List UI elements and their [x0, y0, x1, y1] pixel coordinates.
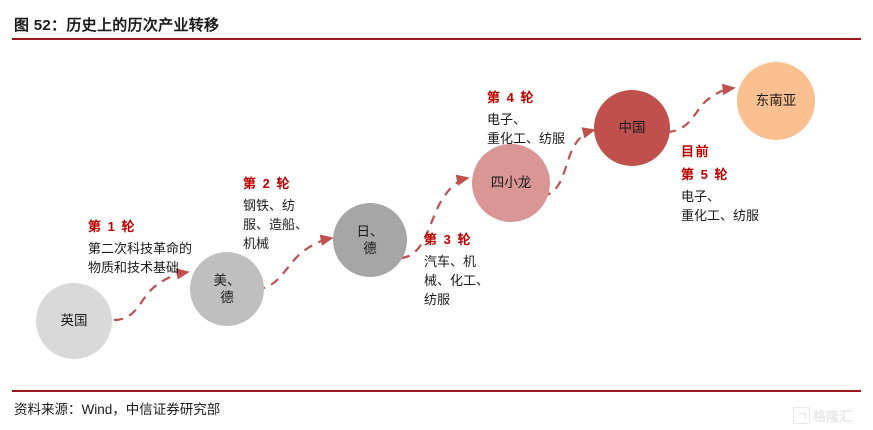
- node-jp-de[interactable]: 日、德: [333, 203, 407, 277]
- watermark-text: 格隆汇: [813, 406, 852, 425]
- round-3-desc-line3: 纺服: [424, 291, 489, 310]
- watermark: 格隆汇: [793, 406, 852, 425]
- round-5-now-label: 目前: [681, 141, 759, 160]
- annotation-round-2: 第 2 轮 钢铁、纺 服、造船、 机械: [243, 173, 308, 254]
- node-us-de-label: 美、德: [210, 272, 244, 307]
- round-3-desc-line1: 汽车、机: [424, 253, 489, 272]
- round-3-desc: 汽车、机 械、化工、 纺服: [424, 253, 489, 310]
- figure-container: 图 52：历史上的历次产业转移 英国 美、德 日、德 四小龙 中国: [0, 0, 873, 430]
- gelonghui-logo-icon: [793, 407, 810, 424]
- node-jp-de-label: 日、德: [353, 223, 387, 258]
- source-note: 资料来源：Wind，中信证券研究部: [14, 398, 220, 418]
- round-1-label: 第 1 轮: [88, 216, 192, 235]
- title-divider: [12, 38, 861, 40]
- node-sea[interactable]: 东南亚: [737, 62, 815, 140]
- round-2-label: 第 2 轮: [243, 173, 308, 192]
- round-1-desc: 第二次科技革命的 物质和技术基础: [88, 240, 192, 278]
- round-5-desc-line2: 重化工、纺服: [681, 207, 759, 226]
- node-four-dragons-label: 四小龙: [491, 174, 532, 191]
- arrow-china-to-sea: [667, 88, 734, 132]
- node-uk-label: 英国: [61, 312, 88, 329]
- round-2-desc-line3: 机械: [243, 235, 308, 254]
- round-2-desc-line2: 服、造船、: [243, 216, 308, 235]
- page-title: 图 52：历史上的历次产业转移: [14, 14, 219, 35]
- annotation-round-5: 目前 第 5 轮 电子、 重化工、纺服: [681, 141, 759, 226]
- annotation-round-3: 第 3 轮 汽车、机 械、化工、 纺服: [424, 229, 489, 310]
- round-3-desc-line2: 械、化工、: [424, 272, 489, 291]
- node-uk[interactable]: 英国: [36, 283, 112, 359]
- round-2-desc: 钢铁、纺 服、造船、 机械: [243, 197, 308, 254]
- annotation-round-4: 第 4 轮 电子、 重化工、纺服: [487, 87, 565, 149]
- round-4-desc-line2: 重化工、纺服: [487, 130, 565, 149]
- node-sea-label: 东南亚: [756, 92, 797, 109]
- node-us-de[interactable]: 美、德: [190, 252, 264, 326]
- round-5-desc-line1: 电子、: [681, 188, 759, 207]
- round-4-desc: 电子、 重化工、纺服: [487, 111, 565, 149]
- arrow-uk-to-us-de: [114, 272, 188, 320]
- node-china-label: 中国: [619, 119, 646, 136]
- round-1-desc-line1: 第二次科技革命的: [88, 240, 192, 259]
- round-5-desc: 电子、 重化工、纺服: [681, 188, 759, 226]
- annotation-round-1: 第 1 轮 第二次科技革命的 物质和技术基础: [88, 216, 192, 278]
- node-four-dragons[interactable]: 四小龙: [472, 144, 550, 222]
- round-5-label: 第 5 轮: [681, 164, 759, 183]
- round-3-label: 第 3 轮: [424, 229, 489, 248]
- node-china[interactable]: 中国: [594, 90, 670, 166]
- round-2-desc-line1: 钢铁、纺: [243, 197, 308, 216]
- footer-divider: [12, 390, 861, 392]
- round-1-desc-line2: 物质和技术基础: [88, 259, 192, 278]
- round-4-label: 第 4 轮: [487, 87, 565, 106]
- round-4-desc-line1: 电子、: [487, 111, 565, 130]
